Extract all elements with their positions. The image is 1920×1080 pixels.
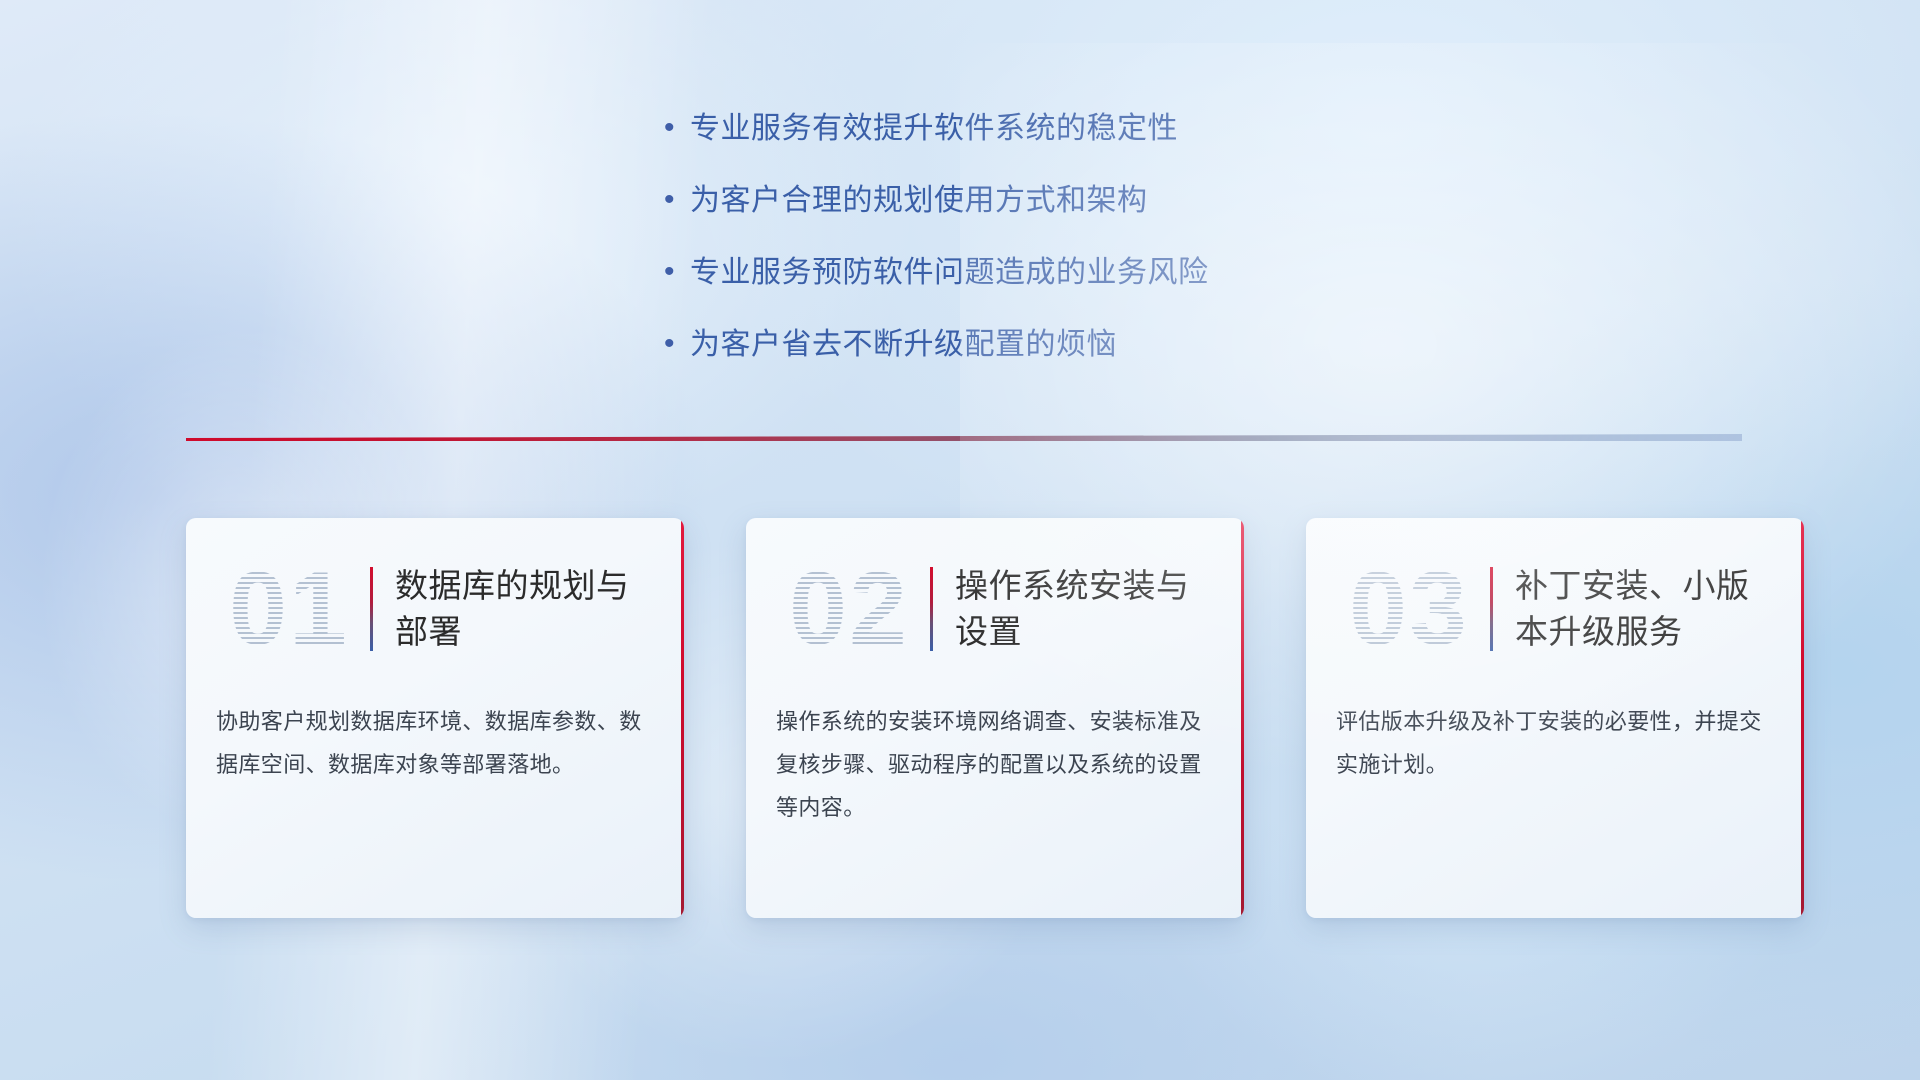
divider-gradient-bar	[186, 434, 1742, 441]
section-divider	[186, 430, 1742, 446]
bullet-marker-icon: •	[660, 324, 690, 364]
card-header: 02 操作系统安装与设置	[746, 518, 1244, 700]
card-title: 操作系统安装与设置	[955, 563, 1222, 655]
card-body-text: 评估版本升级及补丁安装的必要性，并提交实施计划。	[1306, 700, 1804, 786]
card-header: 03 补丁安装、小版本升级服务	[1306, 518, 1804, 700]
bullet-list: • 专业服务有效提升软件系统的稳定性 • 为客户合理的规划使用方式和架构 • 专…	[660, 108, 1480, 396]
card-number: 02	[774, 557, 924, 661]
bullet-item-text: 专业服务预防软件问题造成的业务风险	[690, 252, 1209, 294]
card-row: 01 数据库的规划与部署 协助客户规划数据库环境、数据库参数、数据库空间、数据库…	[186, 518, 1804, 918]
service-card-02[interactable]: 02 操作系统安装与设置 操作系统的安装环境网络调查、安装标准及复核步骤、驱动程…	[746, 518, 1244, 918]
bullet-marker-icon: •	[660, 180, 690, 220]
service-card-01[interactable]: 01 数据库的规划与部署 协助客户规划数据库环境、数据库参数、数据库空间、数据库…	[186, 518, 684, 918]
bullet-item-text: 为客户合理的规划使用方式和架构	[690, 180, 1148, 222]
bullet-marker-icon: •	[660, 252, 690, 292]
card-number: 01	[214, 557, 364, 661]
bullet-item: • 专业服务预防软件问题造成的业务风险	[660, 252, 1480, 294]
card-body-text: 操作系统的安装环境网络调查、安装标准及复核步骤、驱动程序的配置以及系统的设置等内…	[746, 700, 1244, 829]
bullet-marker-icon: •	[660, 108, 690, 148]
bullet-item-text: 专业服务有效提升软件系统的稳定性	[690, 108, 1178, 150]
bullet-item: • 为客户合理的规划使用方式和架构	[660, 180, 1480, 222]
bullet-item-text: 为客户省去不断升级配置的烦恼	[690, 324, 1117, 366]
card-number: 03	[1334, 557, 1484, 661]
card-separator-rule	[1490, 567, 1493, 651]
service-card-03[interactable]: 03 补丁安装、小版本升级服务 评估版本升级及补丁安装的必要性，并提交实施计划。	[1306, 518, 1804, 918]
card-separator-rule	[930, 567, 933, 651]
bullet-item: • 专业服务有效提升软件系统的稳定性	[660, 108, 1480, 150]
card-header: 01 数据库的规划与部署	[186, 518, 684, 700]
card-title: 补丁安装、小版本升级服务	[1515, 563, 1782, 655]
slide-canvas: • 专业服务有效提升软件系统的稳定性 • 为客户合理的规划使用方式和架构 • 专…	[0, 0, 1920, 1080]
card-title: 数据库的规划与部署	[395, 563, 662, 655]
card-body-text: 协助客户规划数据库环境、数据库参数、数据库空间、数据库对象等部署落地。	[186, 700, 684, 786]
bullet-item: • 为客户省去不断升级配置的烦恼	[660, 324, 1480, 366]
card-separator-rule	[370, 567, 373, 651]
